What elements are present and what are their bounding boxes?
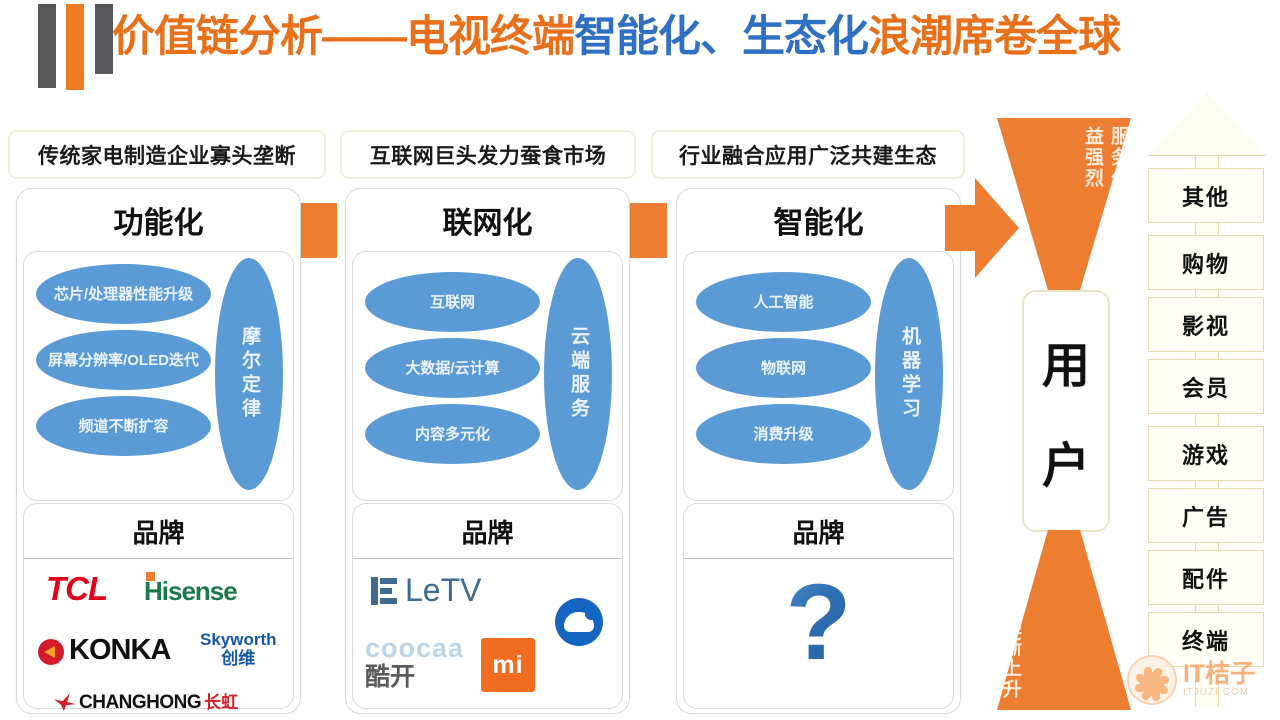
user-box: 用 户 — [1022, 290, 1110, 532]
top-label-internet: 互联网巨头发力蚕食市场 — [340, 130, 636, 179]
brand-logos-2: LeTV coocaa酷开 mi — [353, 558, 622, 708]
konka-logo: KONKA — [38, 634, 170, 667]
letv-logo: LeTV — [371, 572, 481, 609]
stage-column-connected: 联网化 互联网 大数据/云计算 内容多元化 云端服务 品牌 LeTV cooca… — [345, 188, 630, 714]
oval-bigdata-cloud: 大数据/云计算 — [365, 338, 540, 398]
oval-content-diversity: 内容多元化 — [365, 404, 540, 464]
column-2-brand-card: 品牌 LeTV coocaa酷开 mi — [352, 503, 623, 709]
funnel-bottom-text: 使用体验逐渐上升 — [997, 530, 1131, 710]
brand-heading-2: 品牌 — [353, 504, 622, 559]
changhong-logo: CHANGHONG长虹 — [54, 688, 238, 714]
column-heading-2: 联网化 — [346, 189, 629, 251]
ladder-rung-other: 其他 — [1148, 168, 1264, 223]
flow-arrow-right-icon — [945, 178, 1017, 278]
ladder-rung-vip: 会员 — [1148, 359, 1264, 414]
title-bar-gray-left — [38, 4, 56, 88]
coocaa-logo-en: coocaa — [365, 634, 464, 663]
coocaa-logo-cn: 酷开 — [365, 663, 464, 692]
brand-heading-1: 品牌 — [24, 504, 293, 559]
ladder-rung-games: 游戏 — [1148, 426, 1264, 481]
oval-screen-resolution: 屏幕分辨率/OLED迭代 — [36, 330, 211, 390]
coolhand-logo-icon — [555, 598, 603, 646]
ladder-arrow-up-icon — [1148, 92, 1266, 156]
column-heading-3: 智能化 — [677, 189, 960, 251]
oval-iot: 物联网 — [696, 338, 871, 398]
skyworth-logo-en: Skyworth — [200, 630, 277, 649]
oval-machine-learning: 机器学习 — [875, 258, 943, 490]
ladder-rung-video: 影视 — [1148, 297, 1264, 352]
tcl-logo: TCL — [46, 570, 107, 608]
title-bar-gray-right — [95, 4, 113, 74]
ladder-rung-accessory: 配件 — [1148, 550, 1264, 605]
top-label-ecosystem: 行业融合应用广泛共建生态 — [651, 130, 965, 179]
oval-cloud-service: 云端服务 — [544, 258, 612, 490]
skyworth-logo-cn: 创维 — [200, 649, 277, 668]
page-title-seg2: 智能化、生态化 — [574, 13, 868, 61]
question-mark-icon: ? — [684, 562, 953, 682]
slide-canvas: 价值链分析——电视终端智能化、生态化浪潮席卷全球 传统家电制造企业寡头垄断 互联… — [0, 0, 1280, 720]
itjuzi-logo-icon — [1127, 655, 1177, 705]
monetization-ladder: 其他 购物 影视 会员 游戏 广告 配件 终端 — [1148, 92, 1264, 702]
changhong-logo-en: CHANGHONG — [79, 692, 201, 713]
brand-heading-3: 品牌 — [684, 504, 953, 559]
brand-logos-1: TCL Hisense KONKA Skyworth创维 CHANGHONG长虹 — [24, 558, 293, 708]
konka-mark-icon — [38, 639, 64, 665]
column-3-brand-card: 品牌 ? — [683, 503, 954, 709]
changhong-star-icon — [54, 693, 76, 711]
watermark-sub: ITJUZI.COM — [1183, 687, 1255, 698]
stage-column-functional: 功能化 芯片/处理器性能升级 屏幕分辨率/OLED迭代 频道不断扩容 摩尔定律 … — [16, 188, 301, 714]
xiaomi-logo: mi — [481, 638, 535, 692]
oval-moores-law: 摩尔定律 — [215, 258, 283, 490]
konka-logo-text: KONKA — [69, 634, 170, 666]
column-1-ovals-card: 芯片/处理器性能升级 屏幕分辨率/OLED迭代 频道不断扩容 摩尔定律 — [23, 251, 294, 501]
page-title-seg1: 价值链分析——电视终端 — [112, 13, 574, 61]
user-char-1: 用 — [1042, 326, 1090, 396]
oval-consumption-upgrade: 消费升级 — [696, 404, 871, 464]
changhong-logo-cn: 长虹 — [204, 693, 238, 712]
ladder-rung-ads: 广告 — [1148, 488, 1264, 543]
watermark-text: IT桔子 — [1183, 662, 1255, 687]
top-label-traditional: 传统家电制造企业寡头垄断 — [8, 130, 326, 179]
oval-ai: 人工智能 — [696, 272, 871, 332]
coocaa-logo: coocaa酷开 — [365, 634, 464, 692]
column-heading-1: 功能化 — [17, 189, 300, 251]
oval-chip-performance: 芯片/处理器性能升级 — [36, 264, 211, 324]
hisense-logo-text: Hisense — [144, 576, 237, 606]
user-char-2: 户 — [1042, 426, 1090, 496]
stage-column-intelligent: 智能化 人工智能 物联网 消费升级 机器学习 品牌 ? — [676, 188, 961, 714]
oval-internet: 互联网 — [365, 272, 540, 332]
hisense-logo: Hisense — [144, 576, 237, 607]
page-title-seg3: 浪潮席卷全球 — [868, 13, 1120, 61]
page-title: 价值链分析——电视终端智能化、生态化浪潮席卷全球 — [112, 6, 1232, 68]
title-bar-orange — [66, 4, 84, 90]
brand-logos-3: ? — [684, 558, 953, 708]
letv-mark-icon — [371, 577, 399, 605]
oval-channel-expansion: 频道不断扩容 — [36, 396, 211, 456]
column-2-ovals-card: 互联网 大数据/云计算 内容多元化 云端服务 — [352, 251, 623, 501]
watermark: IT桔子 ITJUZI.COM — [1127, 655, 1255, 705]
skyworth-logo: Skyworth创维 — [200, 630, 277, 668]
column-1-brand-card: 品牌 TCL Hisense KONKA Skyworth创维 CHANGHON… — [23, 503, 294, 709]
funnel-bottom-shape: 使用体验逐渐上升 — [997, 530, 1131, 710]
ladder-rung-shopping: 购物 — [1148, 235, 1264, 290]
column-3-ovals-card: 人工智能 物联网 消费升级 机器学习 — [683, 251, 954, 501]
letv-logo-text: LeTV — [405, 572, 481, 608]
